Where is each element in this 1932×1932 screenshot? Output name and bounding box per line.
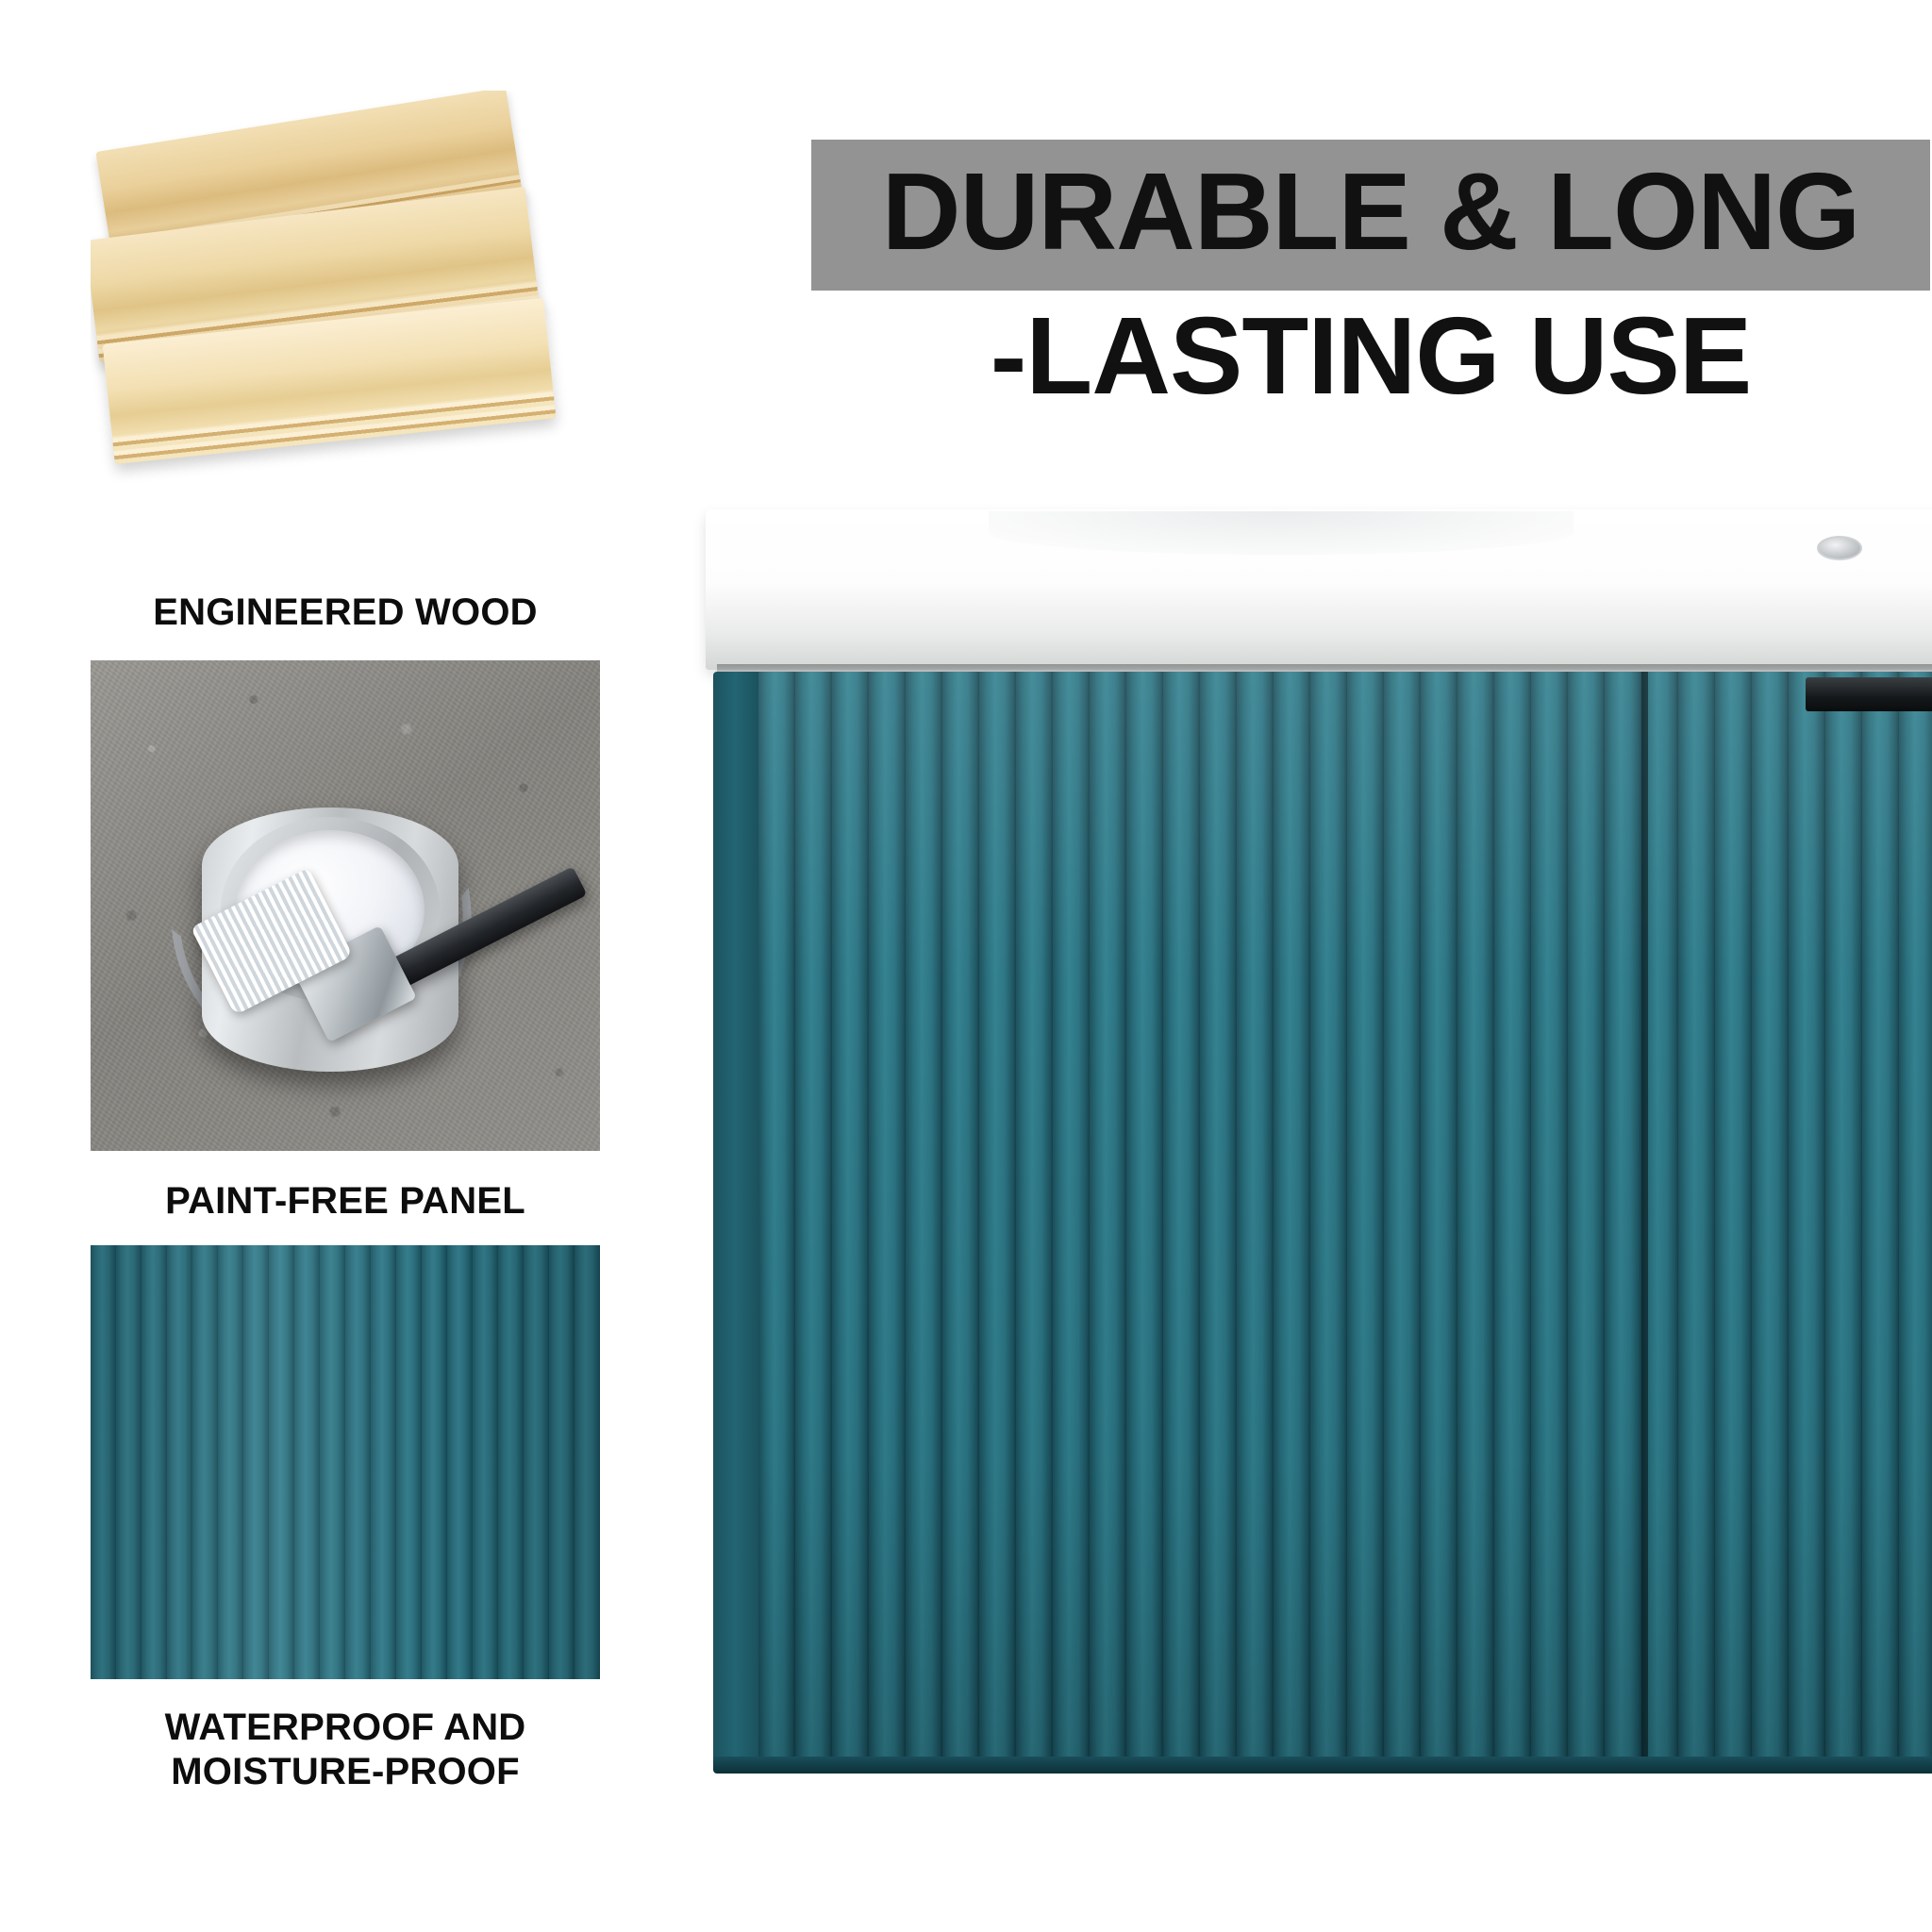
waterproof-caption-line1: WATERPROOF AND <box>91 1706 600 1750</box>
waterproof-caption-line2: MOISTURE-PROOF <box>91 1750 600 1794</box>
features-column: ENGINEERED WOOD PAINT-FREE PANEL WATERPR… <box>0 0 604 1932</box>
feature-engineered-wood: ENGINEERED WOOD <box>91 91 600 635</box>
cabinet-fluted-front <box>758 672 1932 1766</box>
engineered-wood-caption: ENGINEERED WOOD <box>91 591 600 635</box>
basin-recess <box>989 511 1574 555</box>
paint-free-panel-caption: PAINT-FREE PANEL <box>91 1179 600 1224</box>
fluted-texture-shading <box>91 1245 600 1679</box>
cabinet-bottom-edge <box>713 1757 1932 1774</box>
vanity-product-image <box>660 509 1932 1811</box>
paint-free-panel-image <box>91 660 600 1151</box>
feature-paint-free-panel: PAINT-FREE PANEL <box>91 660 600 1224</box>
cabinet-left-side <box>713 672 762 1766</box>
headline-line-1: DURABLE & LONG <box>811 140 1930 284</box>
product-column: DURABLE & LONG -LASTING USE <box>604 0 1932 1932</box>
headline: DURABLE & LONG -LASTING USE <box>811 140 1930 428</box>
vanity-countertop <box>706 509 1932 670</box>
cabinet-handle <box>1806 677 1932 711</box>
feature-waterproof-panel: WATERPROOF AND MOISTURE-PROOF <box>91 1245 600 1794</box>
drain-hole-icon <box>1817 536 1862 560</box>
cabinet-gloss-overlay <box>758 672 1932 1766</box>
fluted-panel-image <box>91 1245 600 1679</box>
engineered-wood-image <box>91 91 600 562</box>
headline-line-2: -LASTING USE <box>811 284 1930 428</box>
cabinet-door-gap <box>1641 672 1648 1766</box>
